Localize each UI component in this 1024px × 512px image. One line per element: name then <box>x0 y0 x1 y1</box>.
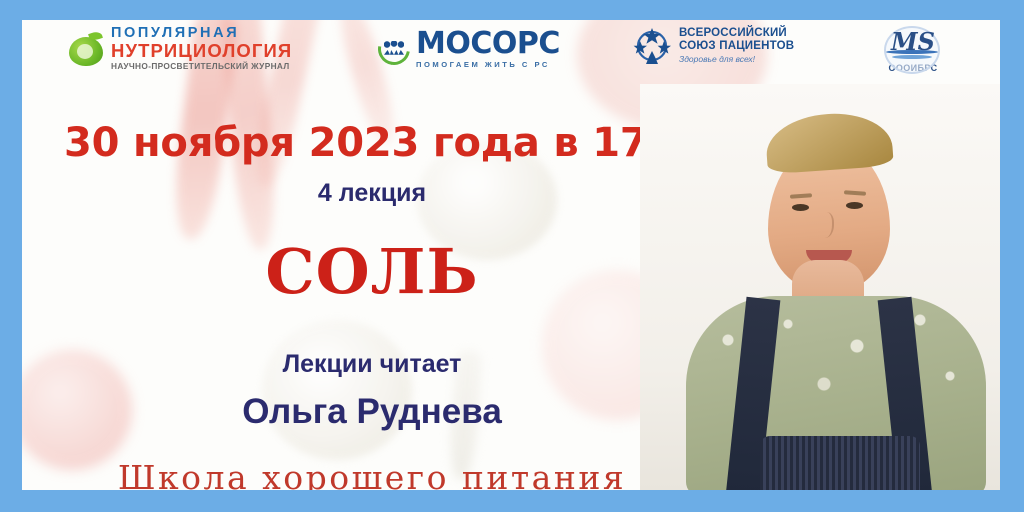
logo-bar: ПОПУЛЯРНАЯ НУТРИЦИОЛОГИЯ НАУЧНО-ПРОСВЕТИ… <box>22 20 1000 82</box>
school-slogan: Школа хорошего питания <box>22 458 722 490</box>
photo-eye-right <box>846 202 863 209</box>
wave-icon <box>870 50 956 61</box>
photo-eye-left <box>792 204 809 211</box>
logo-mosors[interactable]: МОСОРС ПОМОГАЕМ ЖИТЬ С РС <box>378 29 560 69</box>
logo-popular-nutriciology[interactable]: ПОПУЛЯРНАЯ НУТРИЦИОЛОГИЯ НАУЧНО-ПРОСВЕТИ… <box>68 26 292 70</box>
logo-vsp-line2: СОЮЗ ПАЦИЕНТОВ <box>679 40 794 53</box>
reads-by-label: Лекции читает <box>22 350 722 379</box>
logo-ooibrs[interactable]: MS ОООИБРС <box>870 24 956 73</box>
green-apple-icon <box>68 30 104 66</box>
speaker-photo <box>640 84 1000 490</box>
logo-vsp-line1: ВСЕРОССИЙСКИЙ <box>679 27 794 40</box>
page-title: СОЛЬ <box>22 235 722 308</box>
logo-nutri-line1: ПОПУЛЯРНАЯ <box>111 26 292 41</box>
logo-union-of-patients[interactable]: ВСЕРОССИЙСКИЙ СОЮЗ ПАЦИЕНТОВ Здоровье дл… <box>632 27 794 65</box>
logo-mosors-tagline: ПОМОГАЕМ ЖИТЬ С РС <box>416 61 560 69</box>
event-date: 30 ноября 2023 года в 17:00 (мск) <box>64 120 704 166</box>
poster: ПОПУЛЯРНАЯ НУТРИЦИОЛОГИЯ НАУЧНО-ПРОСВЕТИ… <box>0 0 1024 512</box>
logo-nutri-tagline: НАУЧНО-ПРОСВЕТИТЕЛЬСКИЙ ЖУРНАЛ <box>111 62 292 70</box>
photo-nose <box>816 212 834 238</box>
speaker-name: Ольга Руднева <box>22 392 722 432</box>
logo-vsp-tagline: Здоровье для всех! <box>679 55 794 65</box>
logo-mosors-name: МОСОРС <box>416 29 560 59</box>
stars-people-circle-icon <box>632 27 672 65</box>
logo-nutri-line2: НУТРИЦИОЛОГИЯ <box>111 42 292 61</box>
cauliflower-shape-2 <box>262 320 412 460</box>
people-in-circle-icon <box>378 33 410 65</box>
photo-overall-bib <box>760 436 920 490</box>
poster-canvas: ПОПУЛЯРНАЯ НУТРИЦИОЛОГИЯ НАУЧНО-ПРОСВЕТИ… <box>22 20 1000 490</box>
lecture-number: 4 лекция <box>22 179 722 208</box>
